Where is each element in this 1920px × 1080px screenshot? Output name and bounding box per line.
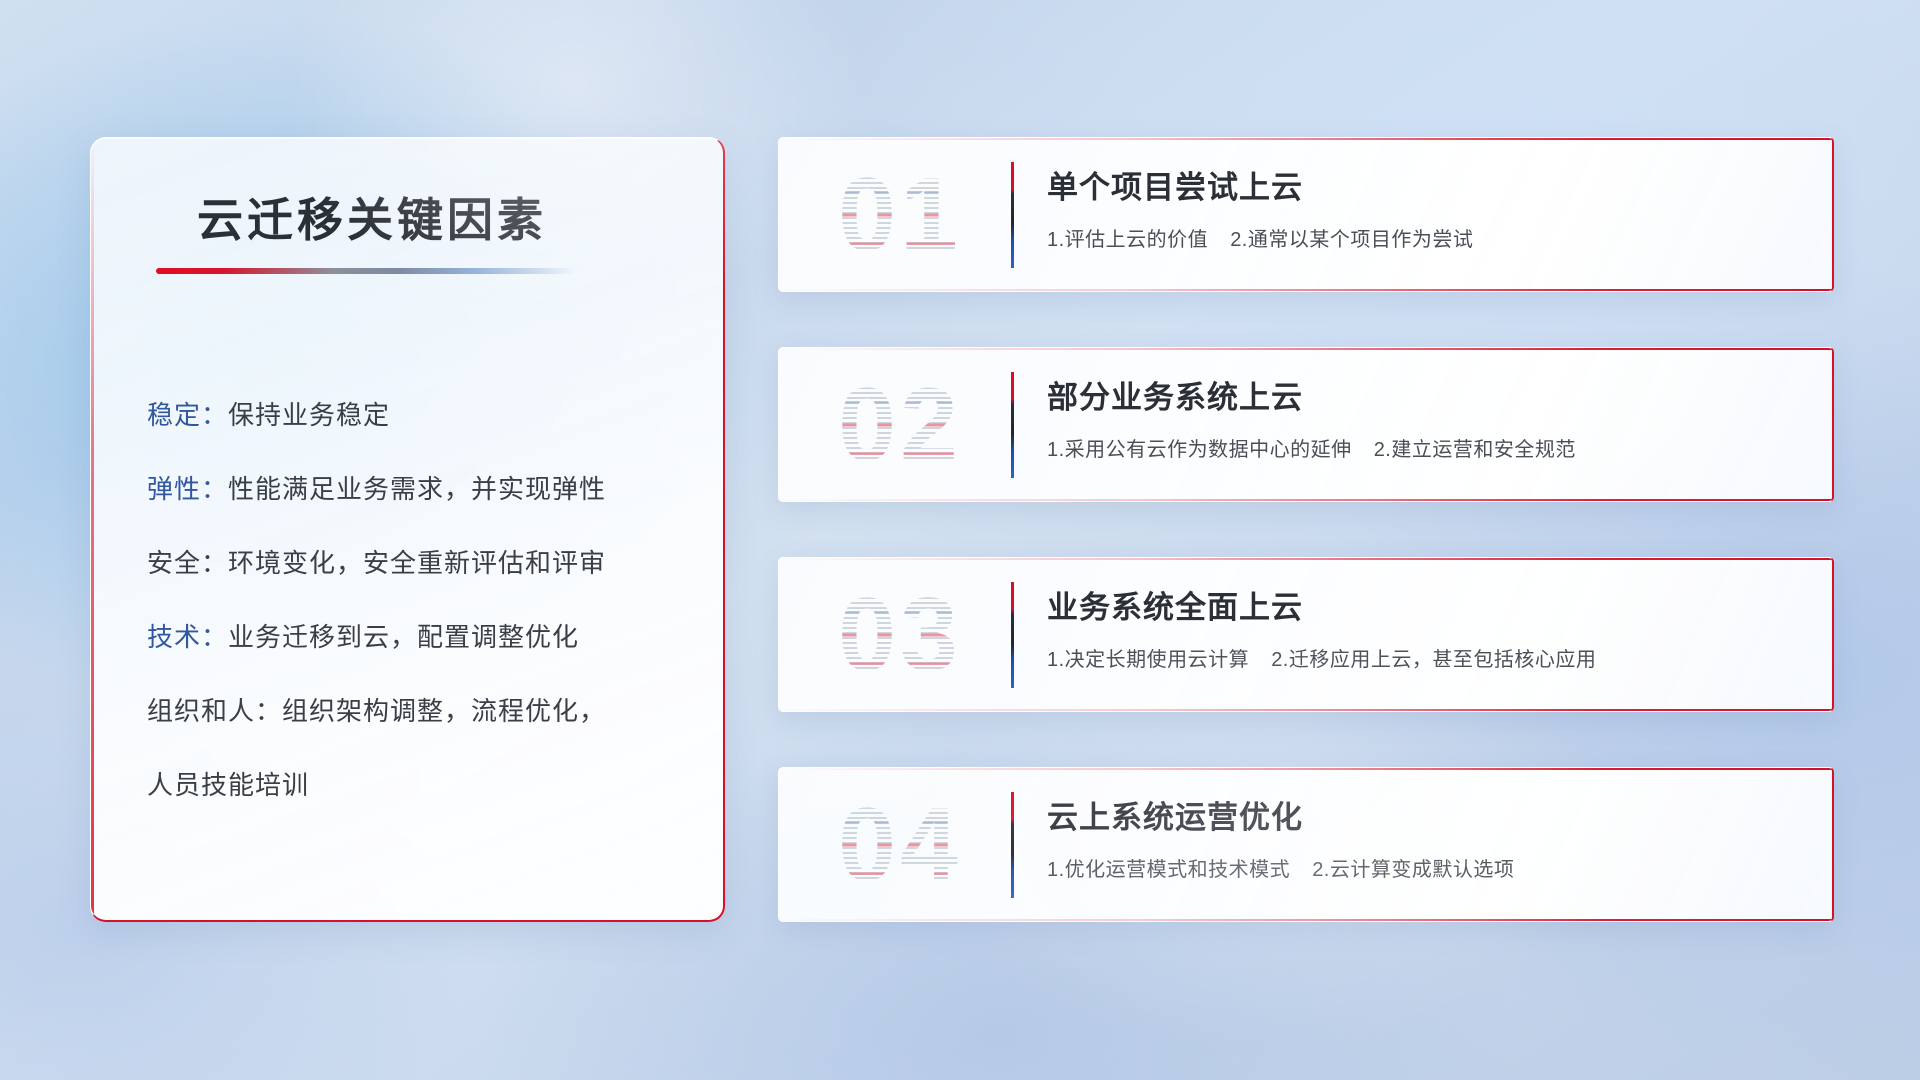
stage-card[interactable]: 0303业务系统全面上云1.决定长期使用云计算2.迁移应用上云，甚至包括核心应用 — [778, 557, 1834, 712]
stage-card-body: 单个项目尝试上云1.评估上云的价值2.通常以某个项目作为尝试 — [1047, 162, 1792, 252]
stage-card-title: 业务系统全面上云 — [1047, 582, 1792, 627]
factor-label: 稳定： — [147, 395, 228, 432]
factor-text: 人员技能培训 — [147, 765, 309, 802]
factor-row: 技术：业务迁移到云，配置调整优化 — [91, 598, 723, 672]
stage-number: 0101 — [805, 152, 995, 278]
stage-card-description: 1.评估上云的价值2.通常以某个项目作为尝试 — [1047, 223, 1792, 252]
stage-card-desc-item-2: 2.云计算变成默认选项 — [1312, 859, 1514, 881]
factor-row: 稳定：保持业务稳定 — [91, 376, 723, 450]
stage-card-body: 部分业务系统上云1.采用公有云作为数据中心的延伸2.建立运营和安全规范 — [1047, 372, 1792, 462]
stage-card-body: 业务系统全面上云1.决定长期使用云计算2.迁移应用上云，甚至包括核心应用 — [1047, 582, 1792, 672]
stage-card-description: 1.决定长期使用云计算2.迁移应用上云，甚至包括核心应用 — [1047, 643, 1792, 672]
stage-card-desc-item-1: 1.评估上云的价值 — [1047, 229, 1208, 251]
page-title: 云迁移关键因素 — [197, 184, 547, 250]
factor-text: 保持业务稳定 — [228, 395, 390, 432]
factor-label: 技术： — [147, 617, 228, 654]
stage-number-glitch-overlay: 04 — [805, 782, 995, 908]
stage-card[interactable]: 0202部分业务系统上云1.采用公有云作为数据中心的延伸2.建立运营和安全规范 — [778, 347, 1834, 502]
factor-text: 环境变化，安全重新评估和评审 — [228, 543, 606, 580]
title-underline-rule — [156, 268, 576, 274]
stage-divider-bar — [1011, 792, 1014, 898]
stage-card-desc-item-2: 2.通常以某个项目作为尝试 — [1230, 229, 1473, 251]
factor-list: 稳定：保持业务稳定弹性：性能满足业务需求，并实现弹性安全：环境变化，安全重新评估… — [91, 376, 723, 820]
stage-number-glitch-overlay: 03 — [805, 572, 995, 698]
factor-row: 安全：环境变化，安全重新评估和评审 — [91, 524, 723, 598]
stage-card-description: 1.采用公有云作为数据中心的延伸2.建立运营和安全规范 — [1047, 433, 1792, 462]
stage-divider-bar — [1011, 582, 1014, 688]
stage-number-glitch-overlay: 02 — [805, 362, 995, 488]
factor-text: 组织架构调整，流程优化， — [282, 691, 606, 728]
stage-card-desc-item-1: 1.决定长期使用云计算 — [1047, 649, 1249, 671]
stage-card-desc-item-2: 2.迁移应用上云，甚至包括核心应用 — [1271, 649, 1596, 671]
stage-number-glitch-overlay: 01 — [805, 152, 995, 278]
stage-divider-bar — [1011, 162, 1014, 268]
stage-card-body: 云上系统运营优化1.优化运营模式和技术模式2.云计算变成默认选项 — [1047, 792, 1792, 882]
stage-number: 0404 — [805, 782, 995, 908]
factor-label: 弹性： — [147, 469, 228, 506]
factor-text: 性能满足业务需求，并实现弹性 — [228, 469, 606, 506]
stage-card-title: 部分业务系统上云 — [1047, 372, 1792, 417]
slide-canvas: 云迁移关键因素 稳定：保持业务稳定弹性：性能满足业务需求，并实现弹性安全：环境变… — [0, 0, 1920, 1080]
stage-number: 0202 — [805, 362, 995, 488]
stage-card-description: 1.优化运营模式和技术模式2.云计算变成默认选项 — [1047, 853, 1792, 882]
stage-card-desc-item-1: 1.采用公有云作为数据中心的延伸 — [1047, 439, 1352, 461]
factor-label: 安全： — [147, 543, 228, 580]
stage-number: 0303 — [805, 572, 995, 698]
stage-card-desc-item-2: 2.建立运营和安全规范 — [1374, 439, 1576, 461]
key-factors-panel: 云迁移关键因素 稳定：保持业务稳定弹性：性能满足业务需求，并实现弹性安全：环境变… — [90, 137, 725, 922]
migration-stage-cards: 0101单个项目尝试上云1.评估上云的价值2.通常以某个项目作为尝试0202部分… — [778, 137, 1834, 977]
factor-label: 组织和人： — [147, 691, 282, 728]
factor-row: 人员技能培训 — [91, 746, 723, 820]
factor-text: 业务迁移到云，配置调整优化 — [228, 617, 579, 654]
factor-row: 组织和人：组织架构调整，流程优化， — [91, 672, 723, 746]
stage-card-title: 单个项目尝试上云 — [1047, 162, 1792, 207]
stage-card-desc-item-1: 1.优化运营模式和技术模式 — [1047, 859, 1290, 881]
stage-divider-bar — [1011, 372, 1014, 478]
stage-card[interactable]: 0101单个项目尝试上云1.评估上云的价值2.通常以某个项目作为尝试 — [778, 137, 1834, 292]
stage-card[interactable]: 0404云上系统运营优化1.优化运营模式和技术模式2.云计算变成默认选项 — [778, 767, 1834, 922]
stage-card-title: 云上系统运营优化 — [1047, 792, 1792, 837]
factor-row: 弹性：性能满足业务需求，并实现弹性 — [91, 450, 723, 524]
